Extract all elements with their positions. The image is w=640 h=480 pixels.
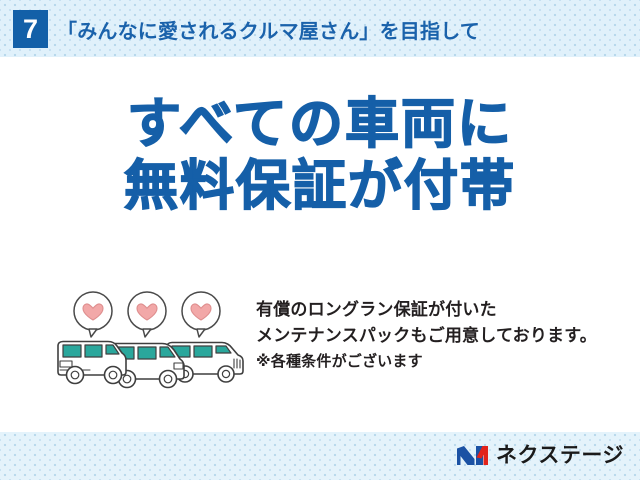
header-title: 「みんなに愛されるクルマ屋さん」を目指して <box>57 15 480 44</box>
section-number-badge: 7 <box>13 10 48 48</box>
three-cars-with-heart-bubbles-illustration <box>50 289 250 394</box>
headline-block: すべての車両に 無料保証が付帯 <box>0 93 640 217</box>
caption-line-3: ※各種条件がございます <box>256 349 632 373</box>
headline-line-2: 無料保証が付帯 <box>0 155 640 217</box>
brand-name: ネクステージ <box>496 444 624 467</box>
heart-bubble-1 <box>74 292 112 337</box>
header-band: 7 「みんなに愛されるクルマ屋さん」を目指して <box>0 0 640 57</box>
kei-wagon-car <box>58 342 126 384</box>
heart-bubble-2 <box>128 292 166 337</box>
caption-block: 有償のロングラン保証が付いた メンテナンスパックもご用意しております。 ※各種条… <box>256 297 632 373</box>
caption-line-1: 有償のロングラン保証が付いた <box>256 297 632 323</box>
caption-line-2: メンテナンスパックもご用意しております。 <box>256 323 632 349</box>
headline-line-1: すべての車両に <box>0 93 640 155</box>
heart-bubble-3 <box>182 292 220 337</box>
brand-logo: ネクステージ <box>456 438 624 472</box>
main-content-panel: すべての車両に 無料保証が付帯 <box>0 57 640 432</box>
promo-slide: 7 「みんなに愛されるクルマ屋さん」を目指して すべての車両に 無料保証が付帯 <box>0 0 640 480</box>
info-row: 有償のロングラン保証が付いた メンテナンスパックもご用意しております。 ※各種条… <box>0 289 640 399</box>
nextage-n-logo-icon <box>456 444 489 467</box>
